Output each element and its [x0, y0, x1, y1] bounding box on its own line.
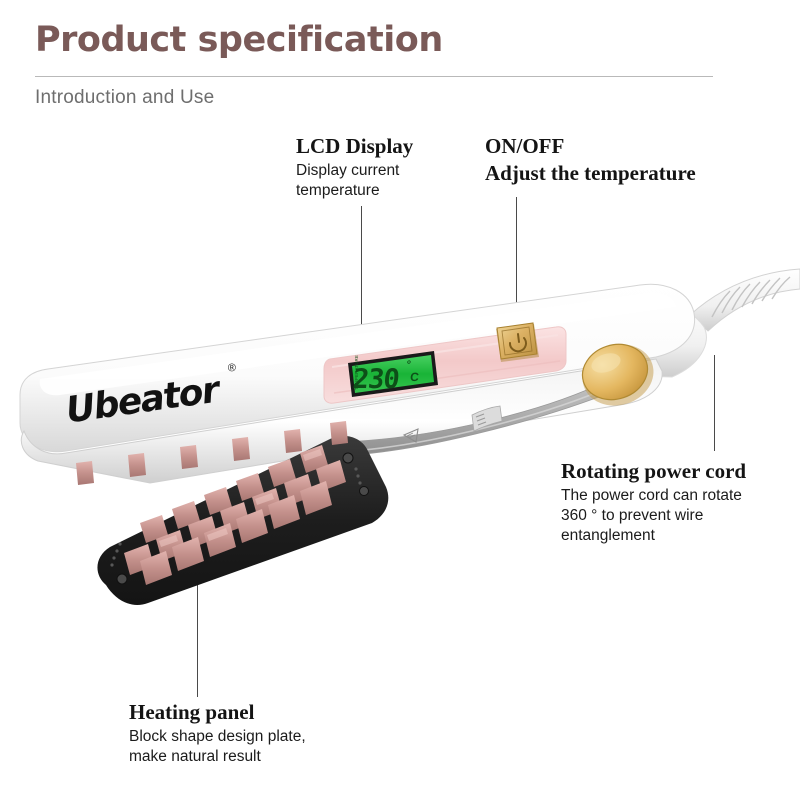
plate-screw-bottom	[117, 574, 127, 584]
plate-screw-mid	[360, 487, 369, 496]
callout-heating-body: Block shape design plate, make natural r…	[129, 727, 306, 767]
power-cord	[690, 269, 800, 331]
callout-lcd-body-line-2: temperature	[296, 181, 413, 201]
callout-lcd-body: Display current temperature	[296, 161, 413, 201]
callout-lcd-body-line-1: Display current	[296, 161, 413, 181]
product-illustration: TEMPERATURE 230 ° C	[0, 255, 800, 655]
power-cord-group	[690, 269, 800, 331]
plate-screw-top	[343, 453, 353, 463]
callout-lcd-heading: LCD Display	[296, 134, 413, 159]
title-divider	[35, 76, 713, 77]
callout-heating-panel: Heating panel Block shape design plate, …	[129, 700, 306, 767]
callout-onoff-subheading: Adjust the temperature	[485, 161, 696, 186]
lcd-unit: C	[409, 370, 419, 384]
lcd-value: 230	[351, 364, 400, 395]
power-button[interactable]	[496, 323, 539, 362]
callout-heating-body-line-2: make natural result	[129, 747, 306, 767]
callout-lcd-display: LCD Display Display current temperature	[296, 134, 413, 201]
page-title: Product specification	[35, 20, 443, 60]
callout-heating-heading: Heating panel	[129, 700, 306, 725]
page-subtitle: Introduction and Use	[35, 87, 214, 109]
callout-heating-body-line-1: Block shape design plate,	[129, 727, 306, 747]
callout-onoff-heading: ON/OFF	[485, 134, 696, 159]
callout-on-off: ON/OFF Adjust the temperature	[485, 134, 696, 186]
brand-trademark: ®	[227, 362, 237, 375]
